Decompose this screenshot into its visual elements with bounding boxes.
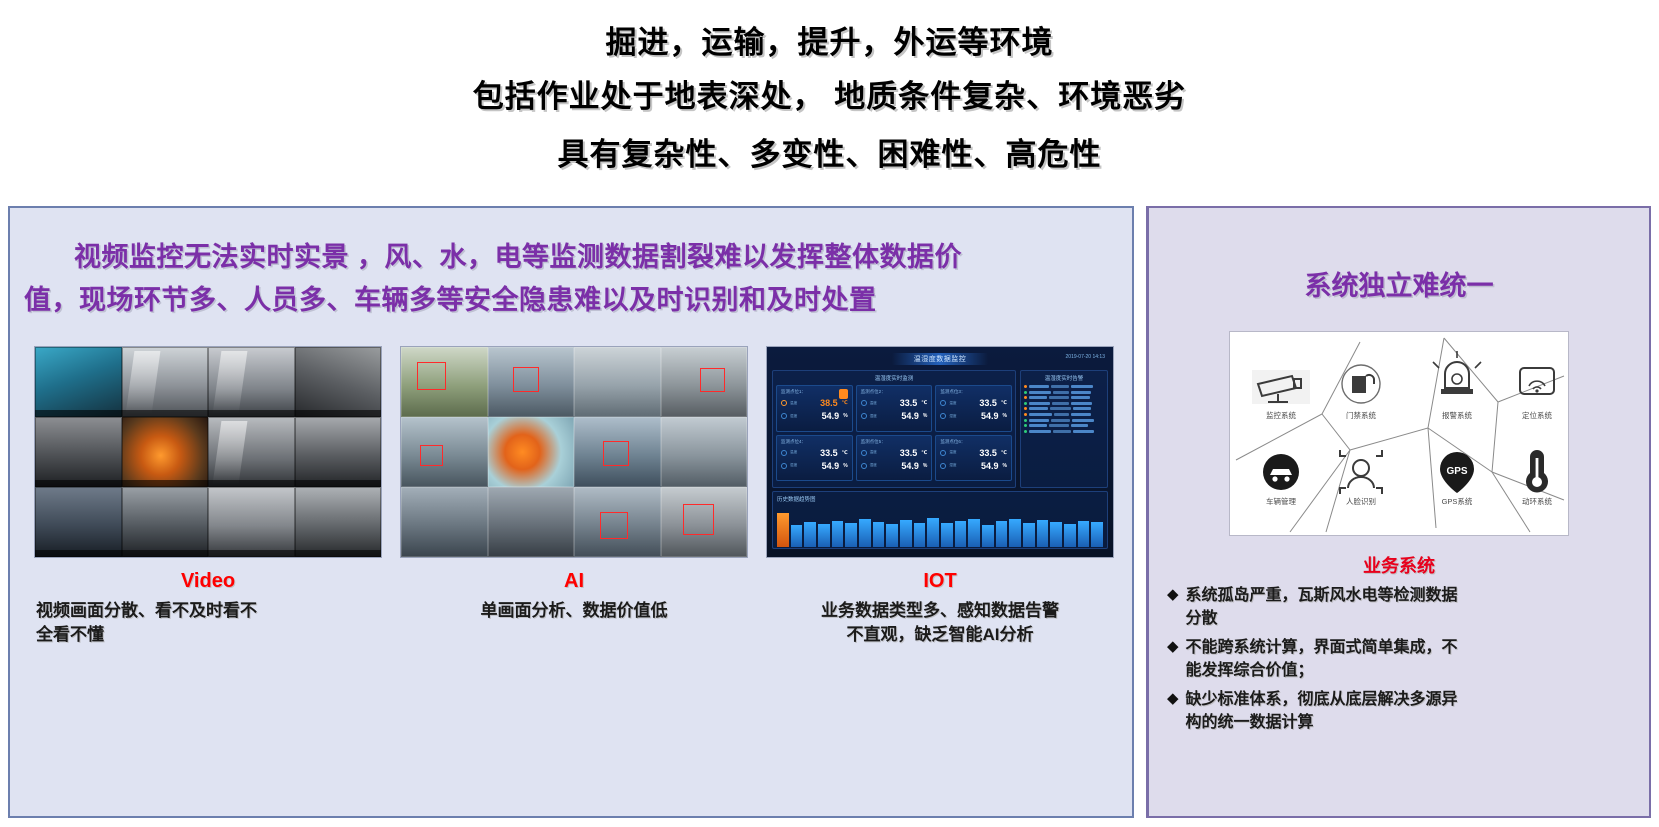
- diamond-bullet-icon: ◆: [1167, 636, 1179, 658]
- iot-temp-row: 温度 33.5 ℃: [861, 398, 928, 408]
- iot-card-grid: 监测点位1： 温度 38.5 ℃: [776, 385, 1012, 481]
- bullet-line-1: 缺少标准体系，彻底从底层解决多源异: [1186, 691, 1458, 708]
- iot-dashboard-thumbnail[interactable]: 温湿度数据监控 2019-07-20 14:13 温湿度实时监测 监测点位1：: [766, 346, 1114, 558]
- log-row: [1024, 424, 1104, 427]
- iot-temp-unit: ℃: [1001, 450, 1007, 456]
- bullet-item: ◆ 不能跨系统计算，界面式简单集成，不 能发挥综合价值；: [1167, 636, 1635, 682]
- bullet-text: 不能跨系统计算，界面式简单集成，不 能发挥综合价值；: [1186, 636, 1458, 682]
- iot-humidity-unit: %: [923, 463, 927, 469]
- iot-dashboard: 温湿度数据监控 2019-07-20 14:13 温湿度实时监测 监测点位1：: [767, 347, 1113, 557]
- iot-dashboard-title: 温湿度数据监控: [892, 353, 989, 365]
- iot-humidity-unit: %: [1003, 413, 1007, 419]
- bullet-line-2: 分散: [1186, 610, 1218, 627]
- iot-card[interactable]: 监测点位3： 温度 33.5 ℃: [935, 385, 1012, 432]
- iot-temp-row: 温度 33.5 ℃: [940, 448, 1007, 458]
- diagram-node-label: 监控系统: [1266, 410, 1296, 420]
- ai-cell: [574, 487, 661, 557]
- diagram-node-label: 动环系统: [1522, 496, 1552, 506]
- ai-cell: [661, 417, 748, 487]
- diagram-node-label: 定位系统: [1522, 410, 1552, 420]
- iot-humidity-label: 湿度: [790, 414, 797, 418]
- iot-card-header: 监测点位5：: [861, 439, 928, 445]
- media-column-ai: AI 单画面分析、数据价值低: [400, 346, 748, 647]
- iot-temp-value: 33.5: [900, 398, 918, 408]
- iot-temp-row: 温度 33.5 ℃: [940, 398, 1007, 408]
- thermometer-environment-icon: [1526, 450, 1548, 492]
- rfid-location-icon: [1520, 368, 1554, 394]
- iot-temp-label: 温度: [870, 401, 877, 405]
- iot-card-header: 监测点位2：: [861, 389, 928, 395]
- iot-temp-label: 温度: [790, 401, 797, 405]
- iot-humidity-value: 54.9: [981, 461, 999, 471]
- lead-line-2: 值，现场环节多、人员多、车辆多等安全隐患难以及时识别和及时处置: [24, 279, 1110, 322]
- iot-card-header: 监测点位4：: [781, 439, 848, 445]
- svg-text:GPS: GPS: [1446, 466, 1467, 477]
- diagram-svg: 监控系统 门禁系统 报警系统: [1230, 332, 1569, 536]
- diagram-node-label: 人脸识别: [1346, 496, 1376, 506]
- diagram-node-label: 车辆管理: [1266, 496, 1296, 506]
- humidity-icon: [940, 463, 946, 469]
- left-panel: 视频监控无法实时实景 ，风、水，电等监测数据割裂难以发挥整体数据价 值，现场环节…: [8, 206, 1134, 818]
- iot-temp-label: 温度: [870, 450, 877, 454]
- thermometer-icon: [781, 400, 787, 406]
- video-cell-fire: [122, 417, 209, 487]
- diagram-node-label: 报警系统: [1442, 410, 1472, 420]
- right-panel: 系统独立难统一: [1146, 206, 1651, 818]
- iot-humidity-value: 54.9: [822, 411, 840, 421]
- iot-temp-row: 温度 33.5 ℃: [861, 448, 928, 458]
- bullet-text: 缺少标准体系，彻底从底层解决多源异 构的统一数据计算: [1186, 688, 1458, 734]
- humidity-icon: [861, 413, 867, 419]
- iot-temp-row: 温度 38.5 ℃: [781, 398, 848, 408]
- video-cell: [208, 417, 295, 487]
- iot-humidity-label: 湿度: [949, 463, 956, 467]
- face-recognition-icon: [1340, 450, 1382, 494]
- video-wall-grid: [35, 347, 381, 557]
- column-caption-ai: 单画面分析、数据价值低: [400, 599, 748, 623]
- video-cell: [122, 487, 209, 557]
- humidity-icon: [781, 463, 787, 469]
- ai-cell: [488, 487, 575, 557]
- thermometer-icon: [940, 450, 946, 456]
- iot-temp-label: 温度: [790, 450, 797, 454]
- right-panel-bullet-list: ◆ 系统孤岛严重，瓦斯风水电等检测数据 分散 ◆ 不能跨系统计算，界面式简单集成…: [1167, 584, 1635, 734]
- diagram-node-label: GPS系统: [1442, 496, 1473, 506]
- log-row: [1024, 413, 1104, 416]
- log-row: [1024, 396, 1104, 399]
- title-line-1: 掘进，运输，提升，外运等环境: [0, 18, 1659, 68]
- iot-temp-value: 38.5: [820, 398, 838, 408]
- iot-humidity-unit: %: [923, 413, 927, 419]
- thermometer-icon: [940, 400, 946, 406]
- bullet-line-1: 不能跨系统计算，界面式简单集成，不: [1186, 639, 1458, 656]
- ai-cell-smoke: [488, 417, 575, 487]
- column-label-iot: IOT: [766, 570, 1114, 593]
- ai-cell: [574, 347, 661, 417]
- iot-humidity-row: 湿度 54.9 %: [940, 461, 1007, 471]
- ai-cell: [661, 487, 748, 557]
- iot-temp-unit: ℃: [842, 450, 848, 456]
- video-cell: [208, 347, 295, 417]
- iot-humidity-value: 54.9: [901, 411, 919, 421]
- iot-humidity-unit: %: [843, 413, 847, 419]
- vehicle-management-icon: [1263, 454, 1299, 490]
- iot-temp-value: 33.5: [979, 398, 997, 408]
- slide-root: 掘进，运输，提升，外运等环境 包括作业处于地表深处， 地质条件复杂、环境恶劣 具…: [0, 0, 1659, 827]
- caption-line-2: 全看不懂: [36, 623, 382, 647]
- iot-main-section: 温湿度实时监测 监测点位1： 温度 3: [772, 370, 1016, 488]
- ai-cell: [401, 417, 488, 487]
- iot-humidity-unit: %: [843, 463, 847, 469]
- thermometer-icon: [861, 450, 867, 456]
- iot-trend-chart[interactable]: 历史数据趋势图: [772, 491, 1108, 549]
- log-row: [1024, 402, 1104, 405]
- iot-humidity-row: 湿度 54.9 %: [940, 411, 1007, 421]
- bullet-line-1: 系统孤岛严重，瓦斯风水电等检测数据: [1186, 587, 1458, 604]
- iot-humidity-value: 54.9: [981, 411, 999, 421]
- iot-card[interactable]: 监测点位2： 温度 33.5 ℃: [856, 385, 933, 432]
- media-column-video: Video 视频画面分散、看不及时看不 全看不懂: [34, 346, 382, 647]
- trend-bars: [777, 507, 1103, 547]
- video-cell: [295, 487, 382, 557]
- caption-line-1: 视频画面分散、看不及时看不: [36, 599, 382, 623]
- log-row: [1024, 419, 1104, 422]
- iot-humidity-label: 湿度: [870, 414, 877, 418]
- iot-temp-value: 33.5: [820, 448, 838, 458]
- ai-cell: [401, 347, 488, 417]
- iot-alarm-log-panel[interactable]: 温湿度实时告警: [1020, 370, 1108, 488]
- caption-line-2: 不直观，缺乏智能AI分析: [766, 623, 1114, 647]
- panels-container: 视频监控无法实时实景 ，风、水，电等监测数据割裂难以发挥整体数据价 值，现场环节…: [8, 206, 1653, 818]
- media-row: Video 视频画面分散、看不及时看不 全看不懂: [10, 322, 1132, 647]
- iot-timestamp: 2019-07-20 14:13: [1066, 354, 1105, 360]
- column-caption-video: 视频画面分散、看不及时看不 全看不懂: [34, 599, 382, 647]
- iot-humidity-label: 湿度: [870, 463, 877, 467]
- humidity-icon: [781, 413, 787, 419]
- iot-card-header: 监测点位6：: [940, 439, 1007, 445]
- iot-humidity-row: 湿度 54.9 %: [861, 411, 928, 421]
- iot-humidity-label: 湿度: [790, 463, 797, 467]
- bullet-line-2: 能发挥综合价值；: [1186, 662, 1314, 679]
- diagram-node-label: 门禁系统: [1346, 410, 1376, 420]
- slide-title-block: 掘进，运输，提升，外运等环境 包括作业处于地表深处， 地质条件复杂、环境恶劣 具…: [0, 0, 1659, 184]
- iot-temp-value: 33.5: [900, 448, 918, 458]
- ai-cell: [574, 417, 661, 487]
- iot-chart-title: 历史数据趋势图: [777, 495, 1103, 503]
- iot-card[interactable]: 监测点位1： 温度 38.5 ℃: [776, 385, 853, 432]
- iot-card-header: 监测点位1：: [781, 389, 848, 395]
- iot-temp-unit: ℃: [921, 400, 927, 406]
- iot-temp-unit: ℃: [921, 450, 927, 456]
- ai-wall-grid: [401, 347, 747, 557]
- access-control-icon: [1342, 365, 1380, 403]
- cctv-camera-icon: [1252, 370, 1310, 404]
- diamond-bullet-icon: ◆: [1167, 688, 1179, 710]
- video-cell: [295, 347, 382, 417]
- iot-card[interactable]: 监测点位4： 温度 33.5 ℃: [776, 435, 853, 482]
- column-caption-iot: 业务数据类型多、感知数据告警 不直观，缺乏智能AI分析: [766, 599, 1114, 647]
- video-cell: [35, 417, 122, 487]
- iot-humidity-label: 湿度: [949, 414, 956, 418]
- column-label-video: Video: [34, 570, 382, 593]
- alarm-icon: [839, 389, 848, 399]
- left-panel-lead: 视频监控无法实时实景 ，风、水，电等监测数据割裂难以发挥整体数据价 值，现场环节…: [10, 208, 1132, 322]
- log-row: [1024, 430, 1104, 433]
- iot-temp-unit: ℃: [1001, 400, 1007, 406]
- media-column-iot: 温湿度数据监控 2019-07-20 14:13 温湿度实时监测 监测点位1：: [766, 346, 1114, 647]
- video-cell: [122, 347, 209, 417]
- thermometer-icon: [861, 400, 867, 406]
- iot-temp-value: 33.5: [979, 448, 997, 458]
- iot-humidity-row: 湿度 54.9 %: [781, 461, 848, 471]
- diagram-caption: 业务系统: [1149, 552, 1649, 578]
- caption-line-1: 业务数据类型多、感知数据告警: [766, 599, 1114, 623]
- bullet-item: ◆ 系统孤岛严重，瓦斯风水电等检测数据 分散: [1167, 584, 1635, 630]
- bullet-text: 系统孤岛严重，瓦斯风水电等检测数据 分散: [1186, 584, 1458, 630]
- gps-pin-icon: GPS: [1440, 452, 1474, 493]
- iot-humidity-value: 54.9: [901, 461, 919, 471]
- iot-card[interactable]: 监测点位6： 温度 33.5 ℃: [935, 435, 1012, 482]
- iot-card[interactable]: 监测点位5： 温度 33.5 ℃: [856, 435, 933, 482]
- ai-cell: [488, 347, 575, 417]
- log-row: [1024, 407, 1104, 410]
- iot-humidity-row: 湿度 54.9 %: [861, 461, 928, 471]
- right-panel-title: 系统独立难统一: [1149, 264, 1649, 303]
- iot-temp-row: 温度 33.5 ℃: [781, 448, 848, 458]
- lead-line-1: 视频监控无法实时实景 ，风、水，电等监测数据割裂难以发挥整体数据价: [24, 236, 1110, 279]
- video-cell: [35, 347, 122, 417]
- diamond-bullet-icon: ◆: [1167, 584, 1179, 606]
- iot-temp-unit: ℃: [842, 400, 848, 406]
- ai-cell: [661, 347, 748, 417]
- title-line-2: 包括作业处于地表深处， 地质条件复杂、环境恶劣: [0, 68, 1659, 126]
- log-row: [1024, 391, 1104, 394]
- video-cell: [35, 487, 122, 557]
- iot-card-header: 监测点位3：: [940, 389, 1007, 395]
- caption-line-1: 单画面分析、数据价值低: [400, 599, 748, 623]
- bullet-item: ◆ 缺少标准体系，彻底从底层解决多源异 构的统一数据计算: [1167, 688, 1635, 734]
- iot-humidity-unit: %: [1003, 463, 1007, 469]
- ai-wall-thumbnail[interactable]: [400, 346, 748, 558]
- video-cell: [295, 417, 382, 487]
- system-silos-diagram[interactable]: 监控系统 门禁系统 报警系统: [1229, 331, 1569, 536]
- video-cell: [208, 487, 295, 557]
- iot-body: 温湿度实时监测 监测点位1： 温度 3: [772, 370, 1108, 488]
- video-wall-thumbnail[interactable]: [34, 346, 382, 558]
- bullet-line-2: 构的统一数据计算: [1186, 714, 1314, 731]
- column-label-ai: AI: [400, 570, 748, 593]
- iot-humidity-row: 湿度 54.9 %: [781, 411, 848, 421]
- ai-cell: [401, 487, 488, 557]
- title-line-3: 具有复杂性、多变性、困难性、高危性: [0, 126, 1659, 184]
- iot-temp-label: 温度: [949, 450, 956, 454]
- humidity-icon: [861, 463, 867, 469]
- iot-header: 温湿度数据监控 2019-07-20 14:13: [772, 351, 1108, 367]
- log-row: [1024, 385, 1104, 388]
- humidity-icon: [940, 413, 946, 419]
- iot-humidity-value: 54.9: [822, 461, 840, 471]
- iot-temp-label: 温度: [949, 401, 956, 405]
- thermometer-icon: [781, 450, 787, 456]
- iot-log-title: 温湿度实时告警: [1024, 374, 1104, 382]
- iot-section-title: 温湿度实时监测: [776, 374, 1012, 382]
